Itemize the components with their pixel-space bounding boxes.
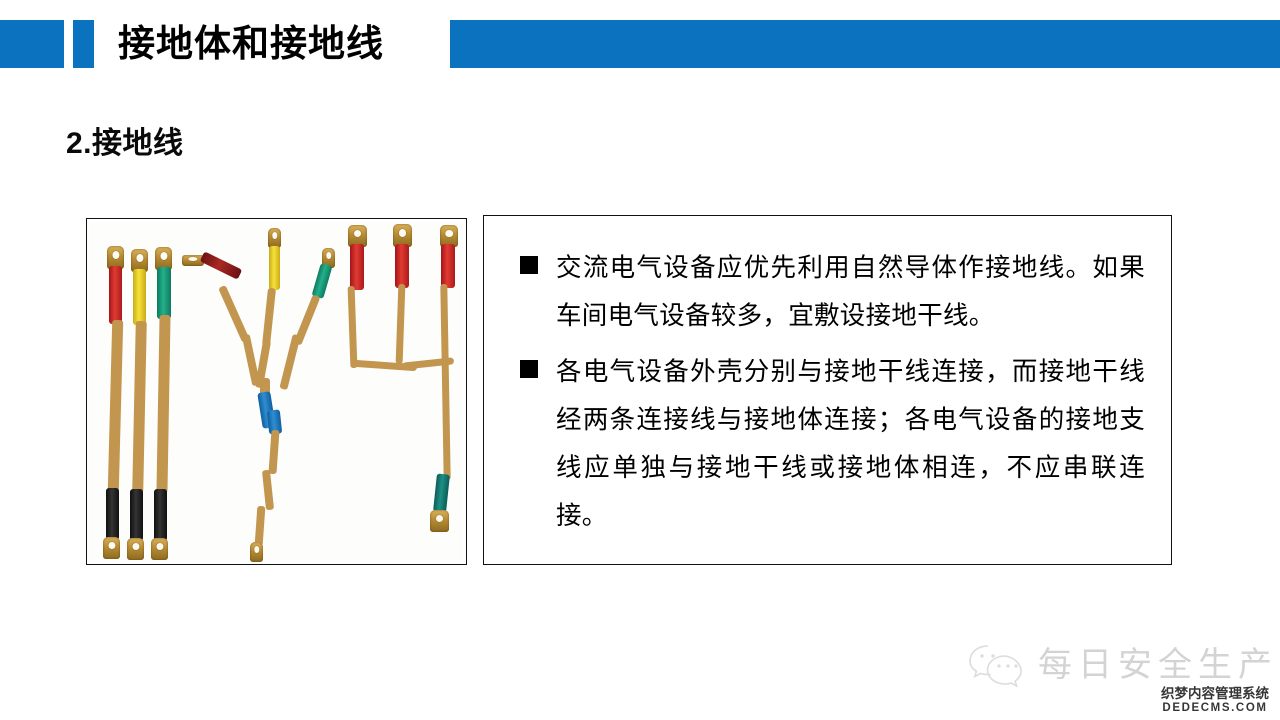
braided-copper-strap — [348, 286, 358, 368]
braided-copper-strap — [156, 315, 170, 493]
wechat-icon — [968, 642, 1026, 688]
section-title: 2.接地线 — [66, 118, 184, 162]
content-text-panel: 交流电气设备应优先利用自然导体作接地线。如果车间电气设备较多，宜敷设接地干线。 … — [483, 215, 1172, 565]
cable-sleeve-yellow — [269, 246, 280, 290]
bullet-item: 各电气设备外壳分别与接地干线连接，而接地干线经两条连接线与接地体连接；各电气设备… — [520, 348, 1145, 540]
cable-lug — [268, 228, 281, 248]
cable-sleeve-red — [109, 266, 122, 324]
square-bullet-icon — [520, 360, 538, 378]
braided-copper-strap — [279, 334, 300, 390]
cable-sleeve-red — [350, 244, 364, 290]
cable-lug — [103, 537, 120, 559]
cable-lug — [250, 542, 263, 562]
braided-copper-strap — [108, 320, 123, 492]
cable-sleeve-dark-red — [200, 251, 243, 279]
cable-sleeve-red — [441, 244, 455, 288]
header-accent-block-narrow — [73, 20, 94, 68]
dedecms-watermark-en: DEDECMS.COM — [1154, 701, 1276, 715]
photo-image-area — [90, 222, 463, 561]
square-bullet-icon — [520, 256, 538, 274]
braided-copper-strap — [132, 321, 147, 493]
grounding-cables-photo — [86, 218, 467, 565]
cable-sleeve-teal — [433, 473, 450, 512]
header-accent-bar-right — [450, 20, 1280, 68]
bullet-text: 交流电气设备应优先利用自然导体作接地线。如果车间电气设备较多，宜敷设接地干线。 — [556, 244, 1145, 340]
page-header: 接地体和接地线 — [0, 0, 1280, 90]
cable-lug — [151, 538, 168, 560]
cable-lug — [127, 538, 144, 560]
bullet-item: 交流电气设备应优先利用自然导体作接地线。如果车间电气设备较多，宜敷设接地干线。 — [520, 244, 1145, 340]
braided-copper-strap — [255, 506, 266, 546]
cable-sleeve-yellow — [133, 269, 146, 325]
cable-sleeve-green — [312, 263, 333, 299]
braided-copper-strap — [268, 430, 279, 474]
header-accent-block-wide — [0, 20, 64, 68]
cable-lug — [430, 510, 449, 532]
dedecms-watermark: 织梦内容管理系统 DEDECMS.COM — [1154, 686, 1276, 715]
dedecms-watermark-cn: 织梦内容管理系统 — [1154, 686, 1276, 701]
braided-copper-strap — [262, 288, 276, 347]
cable-sleeve-black — [106, 488, 119, 540]
bullet-text: 各电气设备外壳分别与接地干线连接，而接地干线经两条连接线与接地体连接；各电气设备… — [556, 348, 1145, 540]
braided-copper-strap — [440, 284, 450, 480]
wechat-watermark-text: 每日安全生产 — [1038, 645, 1278, 685]
braided-copper-strap — [396, 284, 406, 364]
cable-sleeve-red — [395, 244, 409, 288]
page-title: 接地体和接地线 — [118, 14, 384, 74]
cable-sleeve-black — [130, 489, 143, 541]
braided-copper-strap — [262, 470, 274, 511]
cable-sleeve-black — [154, 489, 167, 541]
cable-sleeve-green — [157, 267, 171, 319]
